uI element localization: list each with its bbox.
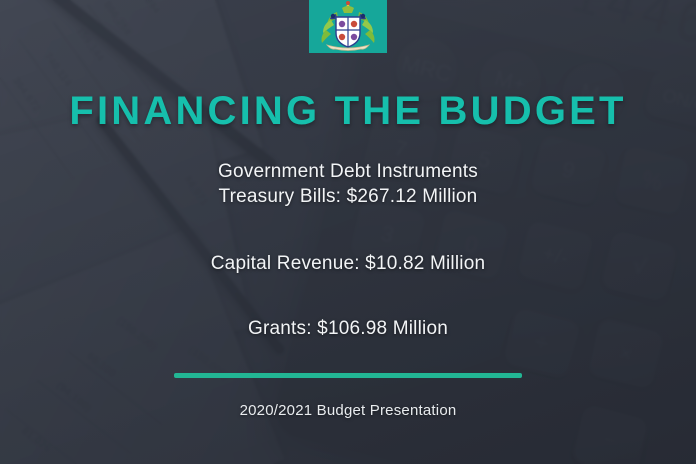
footer-caption: 2020/2021 Budget Presentation	[240, 402, 457, 419]
figure-line-grants: Grants: $106.98 Million	[211, 316, 485, 341]
figure-line-treasury-bills: Treasury Bills: $267.12 Million	[211, 184, 485, 209]
coat-of-arms-icon	[309, 0, 387, 53]
slide-content: FINANCING THE BUDGET Government Debt Ins…	[0, 0, 696, 464]
budget-slide: 364,672 740,114 159,144 866,258 740,994 …	[0, 0, 696, 464]
page-title: FINANCING THE BUDGET	[69, 91, 626, 131]
coat-of-arms-logo	[309, 0, 387, 53]
figures-block: Government Debt Instruments Treasury Bil…	[211, 159, 485, 341]
figure-line-capital-revenue: Capital Revenue: $10.82 Million	[211, 251, 485, 276]
figure-line-government-debt-instruments: Government Debt Instruments	[211, 159, 485, 184]
divider	[174, 373, 522, 378]
